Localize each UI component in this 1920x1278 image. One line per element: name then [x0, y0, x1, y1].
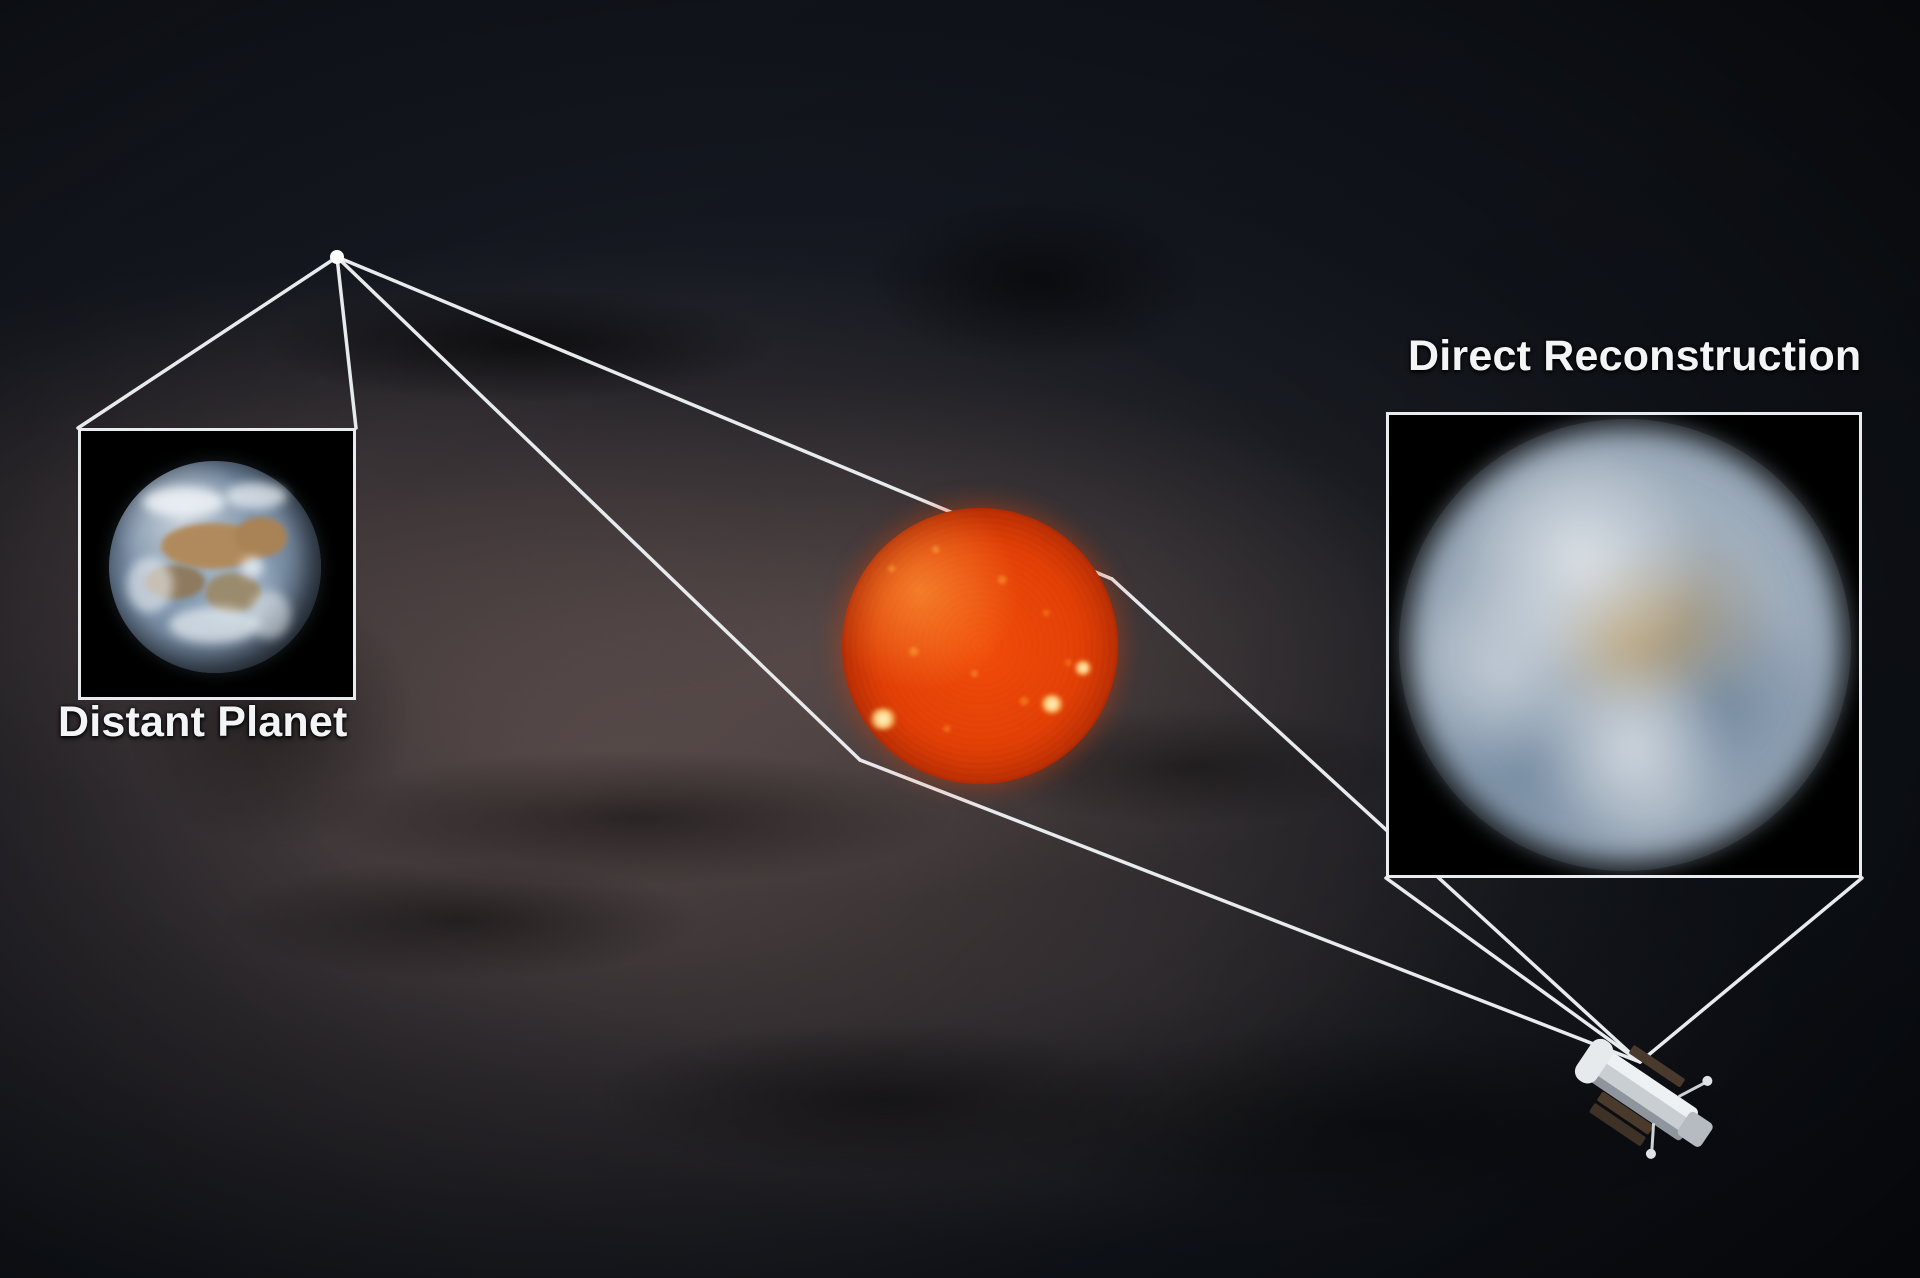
cloud-west: [127, 557, 173, 613]
apex-to-star-lower-limb: [337, 257, 860, 760]
cloud-north: [143, 487, 225, 517]
distant-planet-panel[interactable]: [78, 428, 356, 700]
star-granulation: [842, 508, 1118, 784]
star-flare-3: [1074, 660, 1092, 676]
direct-reconstruction-label: Direct Reconstruction: [1408, 332, 1861, 381]
cloud-southeast: [249, 591, 291, 639]
scene-canvas: Distant Planet Direct Reconstruction: [0, 0, 1920, 1278]
star-flare-2: [1040, 694, 1064, 714]
direct-reconstruction-panel[interactable]: [1386, 412, 1862, 878]
distant-planet-label: Distant Planet: [58, 698, 348, 747]
cloud-south: [169, 607, 259, 643]
reconstructed-globe: [1407, 427, 1843, 863]
apex-to-planet-box-top-left: [78, 257, 337, 428]
star-flare-1: [868, 708, 898, 730]
ray-apex-point: [330, 250, 344, 264]
space-telescope[interactable]: [1556, 1020, 1736, 1170]
cloud-specular: [241, 557, 263, 577]
antenna-dish-b: [1644, 1147, 1658, 1161]
distant-planet-globe: [109, 461, 321, 673]
reconstructed-globe-glow: [1399, 419, 1851, 871]
cloud-northeast: [225, 483, 287, 509]
apex-to-planet-box-top-right: [337, 257, 356, 428]
lensing-star: [826, 492, 1134, 800]
antenna-dish-a: [1700, 1074, 1714, 1088]
landmass-arabia: [235, 517, 287, 557]
